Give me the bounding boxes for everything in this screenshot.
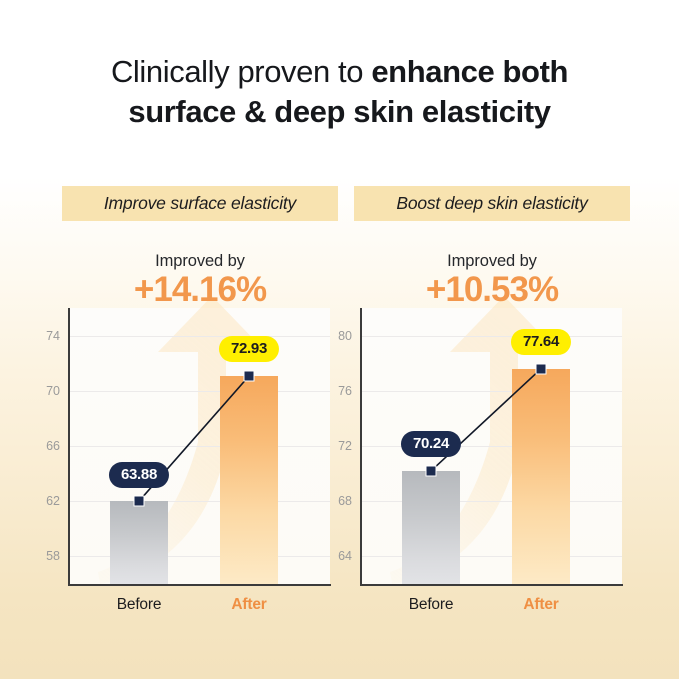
improvement-callout-right: Improved by +10.53% [346, 252, 638, 309]
y-tick-label: 72 [338, 439, 352, 453]
y-tick-label: 62 [46, 494, 60, 508]
category-label-after: After [491, 596, 591, 614]
value-badge-after: 72.93 [219, 336, 279, 362]
bar-after [220, 376, 278, 584]
gridline-80 [360, 336, 622, 337]
marker-before [134, 496, 145, 507]
plot-area-left: 63.88 72.93 [68, 308, 330, 584]
panel-deep-skin-elasticity: Boost deep skin elasticity Improved by +… [346, 186, 638, 636]
x-axis-line-right [360, 584, 623, 586]
panel-banner-label: Improve surface elasticity [104, 193, 296, 214]
improvement-percent: +14.16% [54, 272, 346, 309]
marker-after [244, 371, 255, 382]
bar-before [402, 471, 460, 584]
bar-before [110, 501, 168, 584]
category-label-before: Before [381, 596, 481, 614]
y-tick-label: 74 [46, 329, 60, 343]
y-tick-label: 64 [338, 549, 352, 563]
title-bold-text-1: enhance both [371, 54, 568, 89]
panel-banner-left: Improve surface elasticity [62, 186, 338, 221]
page-title: Clinically proven to enhance both surfac… [0, 52, 679, 131]
x-axis-category-labels-right: Before After [360, 596, 622, 626]
category-label-after: After [199, 596, 299, 614]
x-axis-category-labels-left: Before After [68, 596, 330, 626]
title-line-1: Clinically proven to enhance both [0, 52, 679, 92]
chart-surface-elasticity: 63.88 72.93 74 70 66 62 58 Before After [54, 308, 346, 636]
value-badge-before: 63.88 [109, 462, 169, 488]
gridline-72 [360, 446, 622, 447]
y-tick-label: 68 [338, 494, 352, 508]
panel-banner-label: Boost deep skin elasticity [396, 193, 587, 214]
marker-before [426, 465, 437, 476]
improvement-percent: +10.53% [346, 272, 638, 309]
gridline-76 [360, 391, 622, 392]
improved-by-label: Improved by [346, 252, 638, 271]
y-axis-line-left [68, 308, 70, 585]
x-axis-line-left [68, 584, 331, 586]
title-bold-text-2: surface & deep skin elasticity [128, 94, 550, 129]
chart-deep-skin-elasticity: 70.24 77.64 80 76 72 68 64 Before After [346, 308, 638, 636]
marker-after [536, 363, 547, 374]
gridline-70 [68, 391, 330, 392]
y-tick-label: 66 [46, 439, 60, 453]
category-label-before: Before [89, 596, 189, 614]
gridline-74 [68, 336, 330, 337]
title-line-2: surface & deep skin elasticity [0, 92, 679, 132]
gridline-62 [68, 501, 330, 502]
y-tick-label: 58 [46, 549, 60, 563]
value-badge-before: 70.24 [401, 431, 461, 457]
panel-surface-elasticity: Improve surface elasticity Improved by +… [54, 186, 346, 636]
infographic-page: Clinically proven to enhance both surfac… [0, 0, 679, 679]
value-badge-after: 77.64 [511, 329, 571, 355]
gridline-64 [360, 556, 622, 557]
improved-by-label: Improved by [54, 252, 346, 271]
y-tick-label: 76 [338, 384, 352, 398]
panel-banner-right: Boost deep skin elasticity [354, 186, 630, 221]
plot-area-right: 70.24 77.64 [360, 308, 622, 584]
y-tick-label: 80 [338, 329, 352, 343]
gridline-68 [360, 501, 622, 502]
gridline-58 [68, 556, 330, 557]
bar-after [512, 369, 570, 584]
title-regular-text: Clinically proven to [111, 54, 371, 89]
gridline-66 [68, 446, 330, 447]
y-tick-label: 70 [46, 384, 60, 398]
y-axis-line-right [360, 308, 362, 585]
improvement-callout-left: Improved by +14.16% [54, 252, 346, 309]
